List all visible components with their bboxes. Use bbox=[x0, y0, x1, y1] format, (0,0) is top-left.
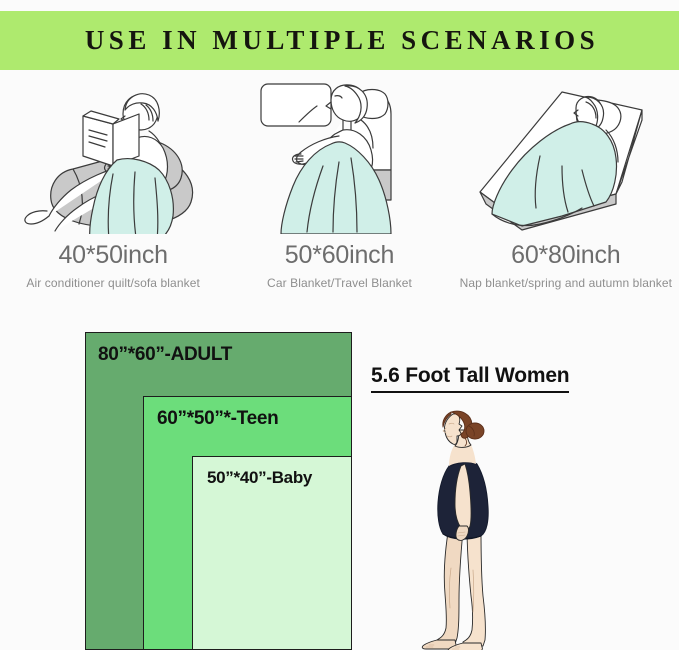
woman-reference-panel: 5.6 Foot Tall Women bbox=[371, 364, 671, 650]
size-box-baby: 50”*40”-Baby bbox=[192, 456, 352, 650]
scenario-caption: Nap blanket/spring and autumn blanket bbox=[460, 276, 673, 290]
scenario-size-label: 50*60inch bbox=[285, 243, 394, 268]
scenario-bed: 60*80inch Nap blanket/spring and autumn … bbox=[453, 74, 679, 300]
person-sleeping-in-bed-icon bbox=[466, 74, 666, 234]
size-box-baby-label: 50”*40”-Baby bbox=[207, 468, 312, 488]
scenario-size-label: 60*80inch bbox=[511, 243, 620, 268]
scenario-beanbag: 40*50inch Air conditioner quilt/sofa bla… bbox=[0, 74, 226, 300]
scenario-caption: Air conditioner quilt/sofa blanket bbox=[26, 276, 200, 290]
scenarios-row: 40*50inch Air conditioner quilt/sofa bla… bbox=[0, 74, 679, 300]
page-title: USE IN MULTIPLE SCENARIOS bbox=[80, 25, 599, 56]
size-box-teen-label: 60”*50”*-Teen bbox=[157, 408, 278, 430]
standing-woman-side-profile-icon bbox=[393, 400, 543, 650]
infographic-page: USE IN MULTIPLE SCENARIOS bbox=[0, 0, 679, 650]
size-box-adult-label: 80”*60”-ADULT bbox=[98, 344, 232, 366]
scenario-size-label: 40*50inch bbox=[58, 243, 167, 268]
scenario-caption: Car Blanket/Travel Blanket bbox=[267, 276, 412, 290]
woman-panel-heading: 5.6 Foot Tall Women bbox=[371, 364, 569, 393]
header-banner: USE IN MULTIPLE SCENARIOS bbox=[0, 11, 679, 70]
person-reclining-in-seat-icon bbox=[239, 74, 439, 234]
person-reading-on-beanbag-icon bbox=[13, 74, 213, 234]
scenario-travel-seat: 50*60inch Car Blanket/Travel Blanket bbox=[226, 74, 452, 300]
